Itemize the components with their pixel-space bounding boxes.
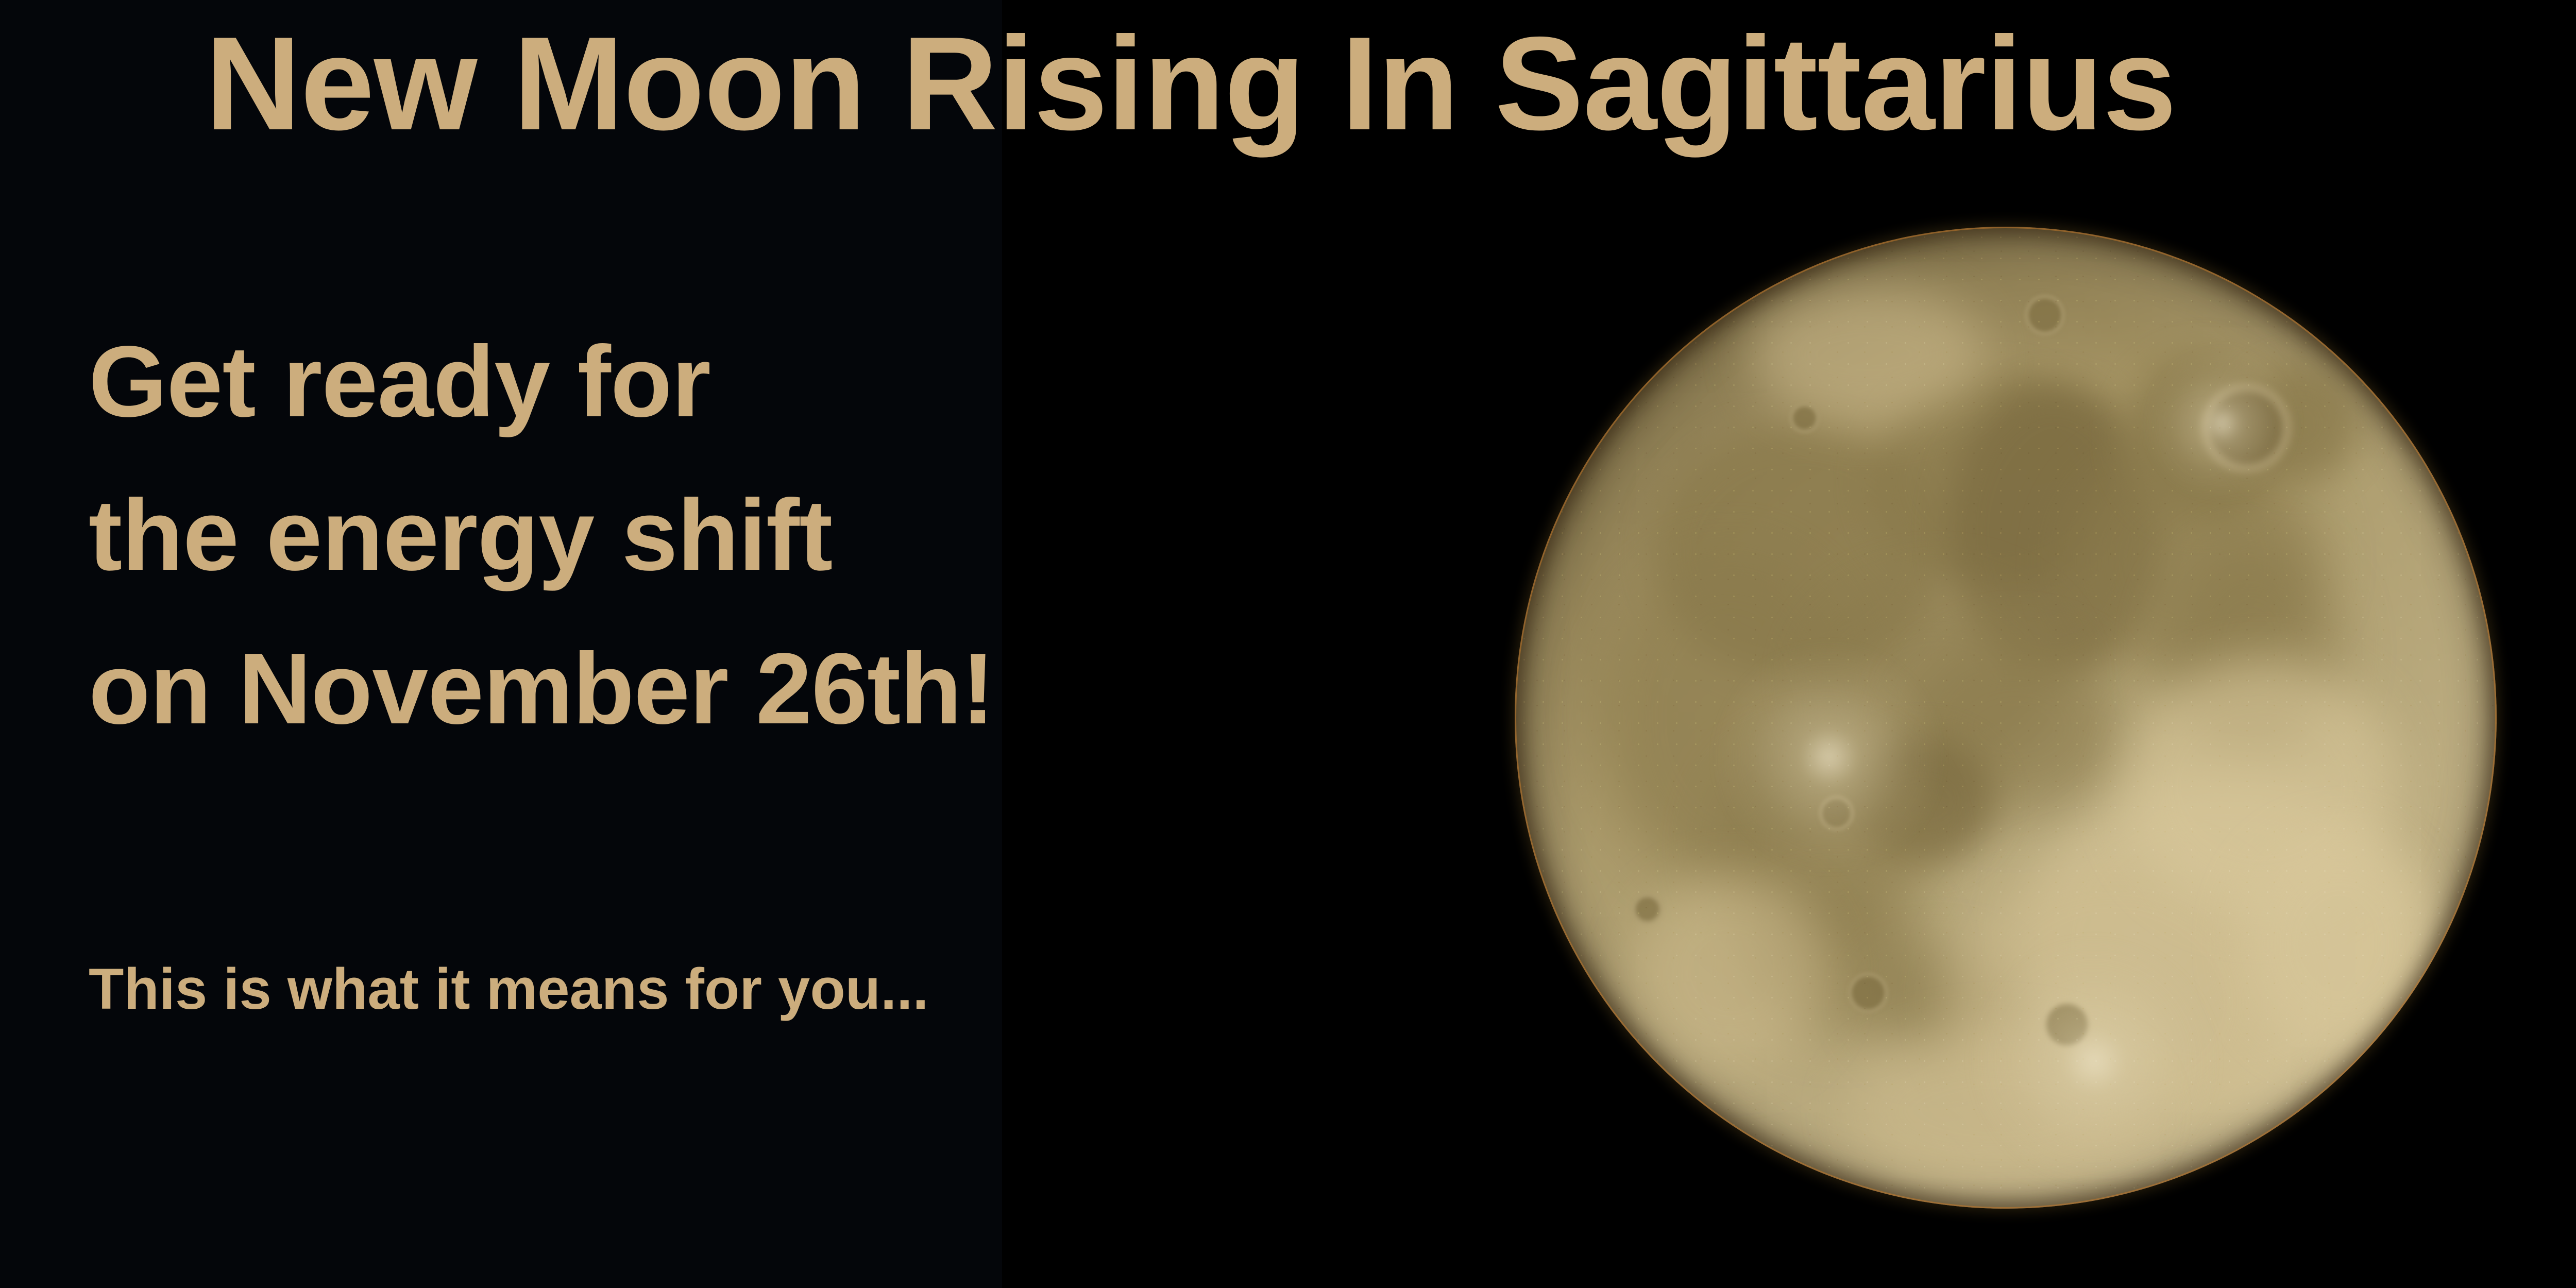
- poster-canvas: New Moon Rising In Sagittarius Get ready…: [0, 0, 2576, 1288]
- page-title: New Moon Rising In Sagittarius: [205, 9, 2420, 158]
- body-line-2: the energy shift: [89, 459, 994, 612]
- moon-limb-edge: [1515, 227, 2497, 1209]
- moon-image: [1515, 227, 2497, 1209]
- body-copy: Get ready for the energy shift on Novemb…: [89, 305, 994, 766]
- body-line-1: Get ready for: [89, 305, 994, 459]
- body-line-3: on November 26th!: [89, 612, 994, 766]
- moon-disc: [1515, 227, 2497, 1209]
- kicker-text: This is what it means for you...: [89, 956, 929, 1022]
